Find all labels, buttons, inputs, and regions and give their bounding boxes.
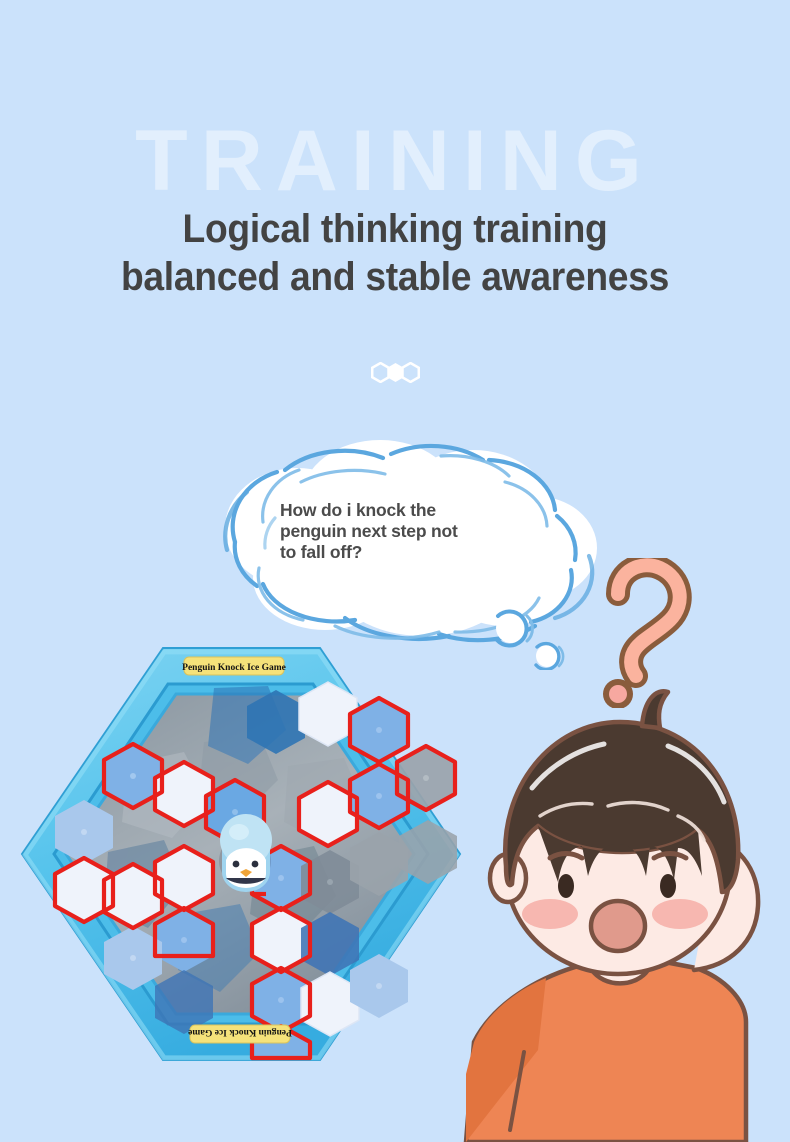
hexagon-outline-icon	[401, 362, 420, 383]
background-watermark-training: TRAINING	[0, 118, 790, 204]
cartoon-boy-character	[446, 670, 790, 1142]
thought-bubble-text: How do i knock the penguin next step not…	[280, 500, 510, 563]
penguin-figure[interactable]	[219, 814, 272, 892]
headline-line-2: balanced and stable awareness	[28, 253, 763, 301]
boy-mouth	[591, 901, 645, 951]
page-title: Logical thinking training balanced and s…	[0, 205, 790, 301]
hexagon-divider	[0, 362, 790, 383]
penguin-knock-ice-game-board[interactable]: Penguin Knock Ice Game Penguin Knock Ice…	[8, 646, 470, 1066]
boy-eye-right	[660, 874, 676, 898]
boy-blush-left	[522, 899, 578, 929]
board-label-bottom: Penguin Knock Ice Game	[188, 1025, 292, 1043]
boy-blush-right	[652, 899, 708, 929]
board-label-bottom-text: Penguin Knock Ice Game	[188, 1027, 292, 1037]
board-label-top-text: Penguin Knock Ice Game	[182, 663, 286, 673]
boy-eye-left	[558, 874, 574, 898]
headline-line-1: Logical thinking training	[28, 205, 763, 253]
thought-line-2: penguin next step not	[280, 521, 510, 542]
thought-line-1: How do i knock the	[280, 500, 510, 521]
thought-line-3: to fall off?	[280, 542, 510, 563]
board-label-top: Penguin Knock Ice Game	[182, 657, 286, 675]
thought-bubble: How do i knock the penguin next step not…	[205, 430, 625, 670]
